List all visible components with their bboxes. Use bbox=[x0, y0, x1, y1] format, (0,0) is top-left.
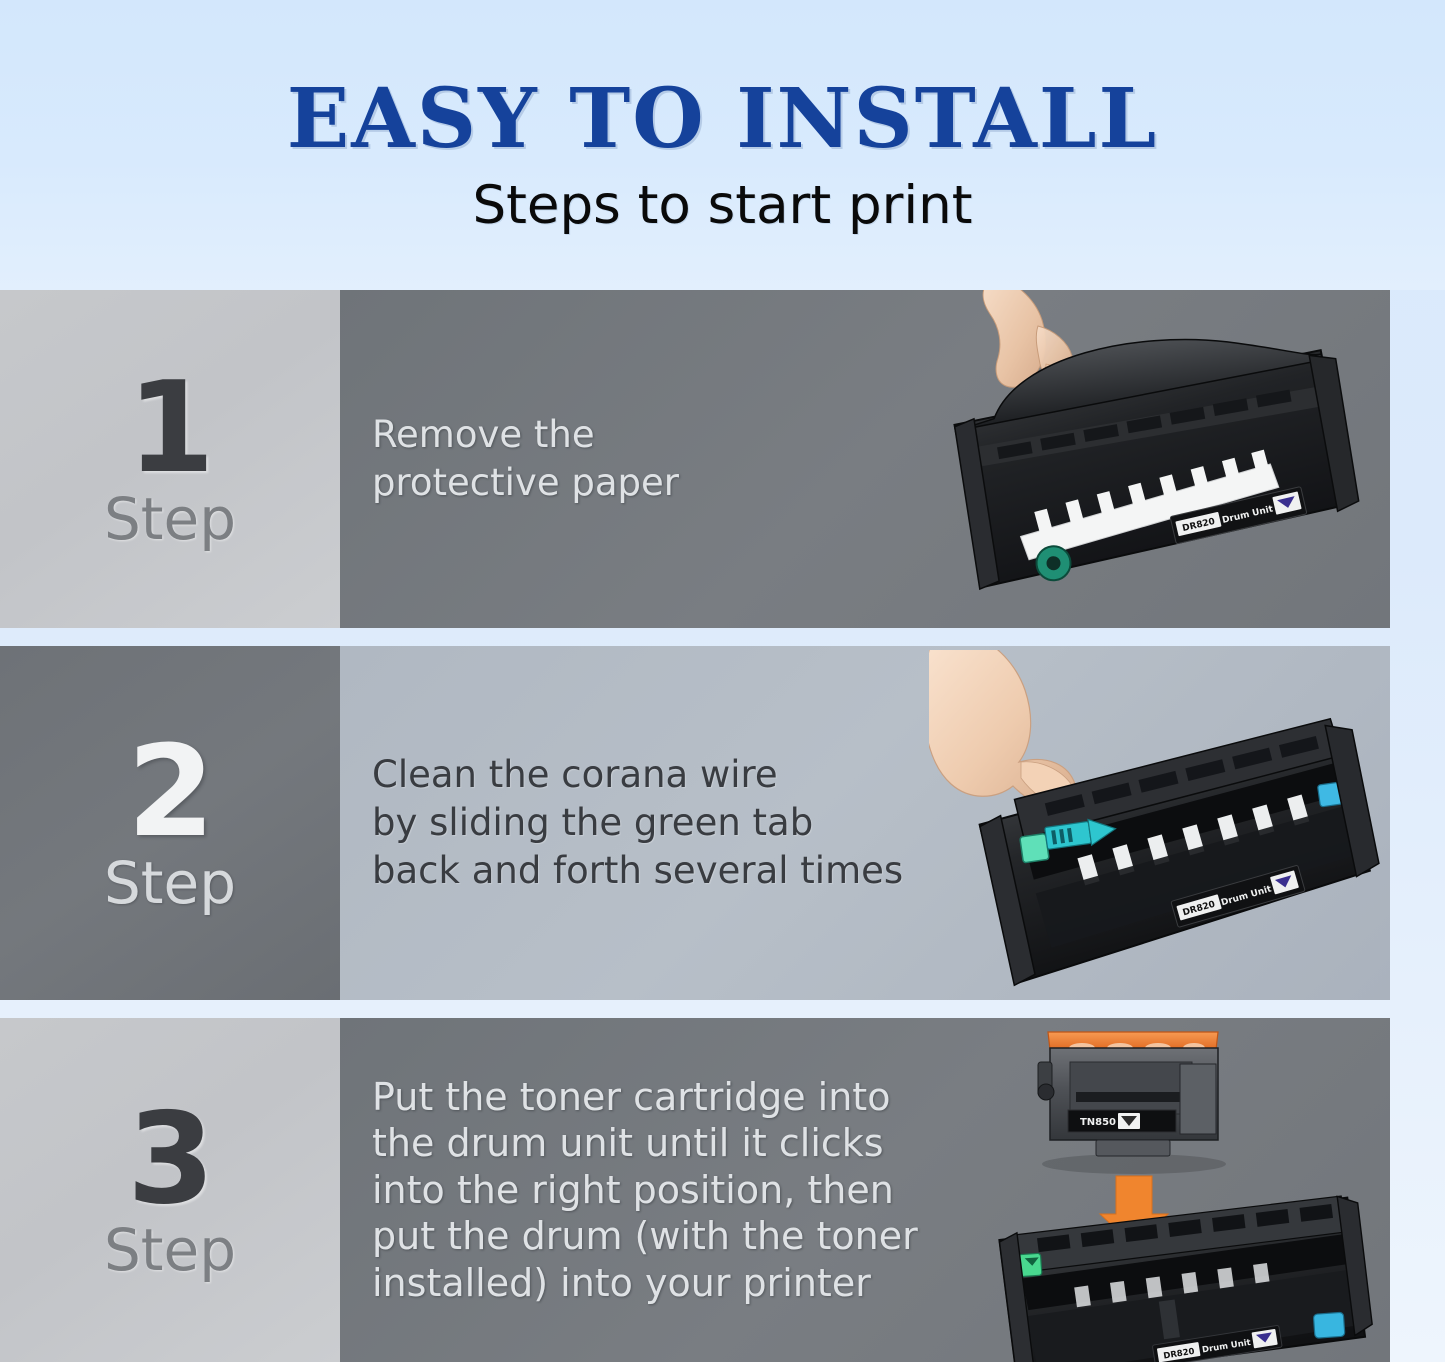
step-text-3: Put the toner cartridge into the drum un… bbox=[340, 1074, 918, 1306]
step-number-2: 2 bbox=[127, 734, 213, 850]
step-number-1: 1 bbox=[127, 370, 213, 486]
step-label-3: Step bbox=[104, 1221, 236, 1279]
header-banner: EASY TO INSTALL Steps to start print bbox=[0, 0, 1445, 290]
step-number-3: 3 bbox=[127, 1101, 213, 1217]
drum-unit-green-tab-image: DR820 Drum Unit bbox=[929, 650, 1384, 998]
step-text-1: Remove the protective paper bbox=[340, 411, 679, 507]
step-content-panel-2: Clean the corana wire by sliding the gre… bbox=[340, 646, 1390, 1000]
step-text-2: Clean the corana wire by sliding the gre… bbox=[340, 751, 903, 895]
drum-unit-body-2: DR820 Drum Unit bbox=[972, 715, 1384, 987]
toner-into-drum-image: TN850 bbox=[964, 1018, 1384, 1362]
step-row-1: 1 Step Remove the protective paper bbox=[0, 290, 1390, 628]
step-number-panel-1: 1 Step bbox=[0, 290, 340, 628]
step-row-3: 3 Step Put the toner cartridge into the … bbox=[0, 1018, 1390, 1362]
drum-unit-body-3: DR820 Drum Unit bbox=[998, 1195, 1375, 1362]
pointing-hand-graphic bbox=[929, 650, 1080, 808]
step-number-panel-3: 3 Step bbox=[0, 1018, 340, 1362]
step-content-panel-1: Remove the protective paper bbox=[340, 290, 1390, 628]
infographic-page: EASY TO INSTALL Steps to start print 1 S… bbox=[0, 0, 1445, 1362]
toner-cartridge-graphic: TN850 bbox=[1038, 1032, 1226, 1174]
page-subtitle: Steps to start print bbox=[472, 178, 972, 234]
toner-model-label: TN850 bbox=[1080, 1117, 1116, 1128]
step-number-panel-2: 2 Step bbox=[0, 646, 340, 1000]
step-label-1: Step bbox=[104, 490, 236, 548]
step-label-2: Step bbox=[104, 854, 236, 912]
drum-unit-protective-paper-image: DR820 Drum Unit bbox=[942, 290, 1372, 616]
step-content-panel-3: Put the toner cartridge into the drum un… bbox=[340, 1018, 1390, 1362]
page-title: EASY TO INSTALL bbox=[287, 78, 1158, 160]
cyan-clip-3 bbox=[1313, 1312, 1345, 1338]
step-row-2: 2 Step Clean the corana wire by sliding … bbox=[0, 646, 1390, 1000]
